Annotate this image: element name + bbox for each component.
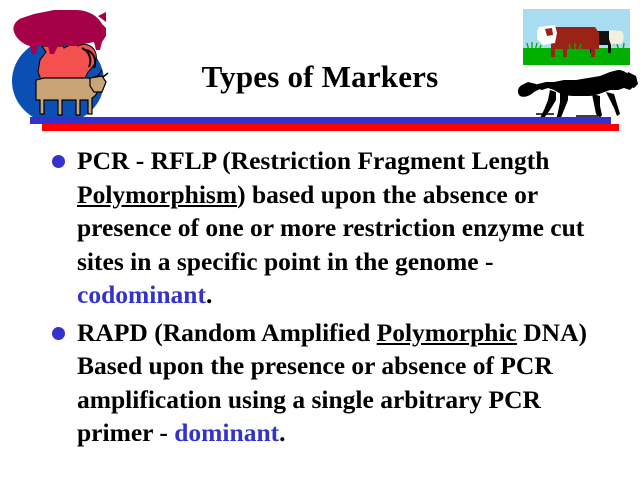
text-run: . [279, 418, 285, 447]
slide-body: PCR - RFLP (Restriction Fragment Length … [50, 144, 596, 454]
divider-rule-blue [30, 117, 611, 124]
livestock-logo [2, 2, 112, 126]
horse-svg [518, 66, 638, 124]
cattle-photo-svg [523, 9, 630, 65]
horse-fore-leg-1 [592, 94, 602, 118]
text-run: RAPD (Random Amplified [77, 318, 377, 347]
bullet-item-1: PCR - RFLP (Restriction Fragment Length … [50, 144, 596, 312]
black-cow-white-rear [609, 30, 624, 45]
horse-fore-leg-2 [606, 92, 620, 116]
text-run: PCR - RFLP (Restriction Fragment Length [77, 146, 549, 175]
horse-hind-leg-2 [556, 92, 568, 120]
galloping-horse-silhouette [518, 66, 638, 124]
bullet-text-2: RAPD (Random Amplified Polymorphic DNA) … [77, 316, 596, 450]
bullet-text-1: PCR - RFLP (Restriction Fragment Length … [77, 144, 596, 312]
accent-term: codominant [77, 280, 206, 309]
emphasized-term: Polymorphic [377, 318, 517, 347]
text-run: . [206, 280, 212, 309]
emphasized-term: Polymorphism [77, 180, 237, 209]
page-title: Types of Markers [120, 60, 520, 94]
cow-head [90, 76, 106, 92]
livestock-logo-svg [2, 2, 112, 126]
presentation-slide: Types of Markers PCR - RFLP (Restriction… [0, 0, 640, 480]
bullet-circle-icon [52, 155, 65, 168]
cattle-pasture-photo [523, 9, 630, 65]
accent-term: dominant [174, 418, 279, 447]
divider-rule-red [42, 124, 619, 131]
bullet-circle-icon [52, 327, 65, 340]
bullet-item-2: RAPD (Random Amplified Polymorphic DNA) … [50, 316, 596, 450]
horse-body [522, 70, 634, 96]
